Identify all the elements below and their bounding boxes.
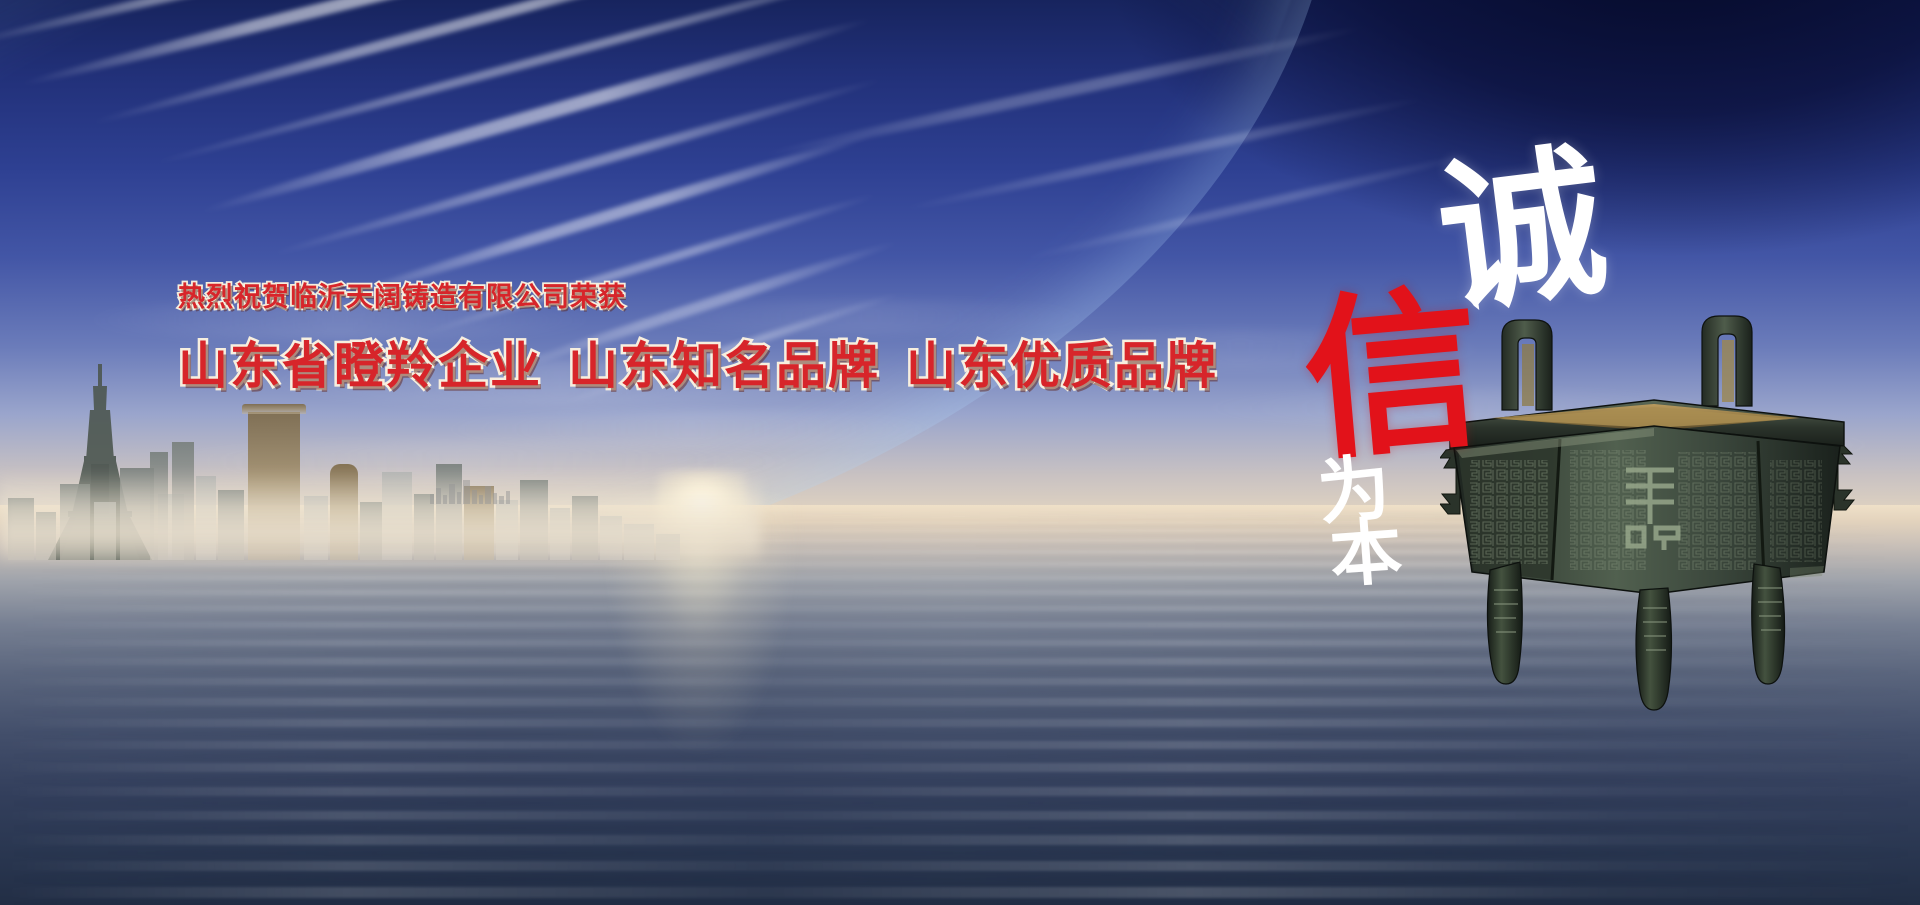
eiffel-tower-icon [36, 364, 164, 560]
wave-band [0, 518, 1920, 521]
wave-band [0, 874, 1920, 885]
ding-handle-right [1702, 316, 1752, 406]
building [624, 524, 654, 560]
wave-band [0, 775, 1920, 784]
wave-band [0, 583, 1920, 588]
headline-block: 热烈祝贺临沂天阔铸造有限公司荣获 山东省瞪羚企业山东知名品牌山东优质品牌 [178, 275, 1218, 398]
cloud-streak [149, 0, 943, 169]
sun-icon [657, 470, 747, 532]
wave-band [0, 708, 1920, 716]
cloud-streak [1019, 149, 1479, 263]
wave-band [0, 719, 1920, 727]
awards-line: 山东省瞪羚企业山东知名品牌山东优质品牌 [178, 326, 1218, 398]
wave-band [0, 698, 1920, 706]
wave-band [0, 513, 1920, 515]
building [414, 494, 434, 560]
building [120, 468, 154, 560]
city-mist [0, 470, 760, 560]
cloud-streak [18, 0, 681, 91]
building [464, 486, 494, 560]
building [360, 502, 382, 560]
building-cap [242, 404, 306, 414]
building [36, 512, 56, 560]
cloud-wisp [120, 440, 820, 484]
calligraphy-cheng: 诚 [1431, 141, 1615, 325]
wave-band [0, 590, 1920, 595]
award-item-1: 山东省瞪羚企业 [178, 338, 542, 394]
cloud-streak [0, 0, 507, 50]
cloud-streak [198, 12, 875, 218]
wave-band [0, 598, 1920, 603]
ding-rim [1450, 400, 1844, 450]
wave-band [0, 668, 1920, 675]
wave-band [0, 640, 1920, 646]
promo-banner: 诚 信 为 本 热烈祝贺临沂天阔铸造有限公司荣获 山东省瞪羚企业山东知名品牌山东… [0, 0, 1920, 905]
wave-band [0, 763, 1920, 772]
building [248, 412, 300, 560]
wave-band [0, 678, 1920, 685]
cloud-wisp [1180, 390, 1740, 426]
wave-band [0, 688, 1920, 695]
wave-band [0, 861, 1920, 871]
calligraphy-ben-glyph: 本 [1328, 516, 1405, 593]
cloud-streak [89, 0, 826, 129]
wave-band [0, 606, 1920, 612]
ocean-background [0, 505, 1920, 905]
cloud-streak [899, 93, 1429, 215]
wave-band [0, 631, 1920, 637]
building [60, 484, 90, 560]
sun-glitter-path [470, 498, 930, 798]
wave-band [0, 823, 1920, 833]
wave-band [0, 515, 1920, 517]
congratulation-line: 热烈祝贺临沂天阔铸造有限公司荣获 [178, 275, 1218, 314]
wave-band [0, 614, 1920, 620]
wave-band [0, 569, 1920, 574]
building [600, 516, 622, 560]
wave-band [0, 741, 1920, 749]
building [656, 534, 680, 560]
building [572, 496, 598, 560]
building [436, 464, 462, 560]
building [304, 496, 328, 560]
building [382, 472, 412, 560]
cloud-streak [759, 21, 1368, 162]
wave-band [0, 787, 1920, 796]
wave-band [0, 550, 1920, 554]
wave-band [0, 576, 1920, 581]
ding-inscription [1626, 468, 1678, 550]
wave-band [0, 649, 1920, 656]
wave-band [0, 544, 1920, 548]
building [550, 508, 570, 560]
ding-legs [1487, 562, 1784, 710]
wave-band [0, 730, 1920, 738]
wave-band [0, 521, 1920, 524]
wave-band [0, 887, 1920, 898]
wave-band [0, 835, 1920, 845]
wave-band [0, 539, 1920, 543]
wave-band [0, 525, 1920, 528]
wave-band [0, 900, 1920, 905]
building [94, 502, 116, 560]
cloud-wisp [1420, 430, 1900, 460]
ding-handle-left [1502, 320, 1552, 410]
wave-band [0, 512, 1920, 514]
calligraphy-wei: 为 [1314, 451, 1393, 530]
building [196, 476, 216, 560]
wave-band [0, 562, 1920, 566]
building [218, 490, 244, 560]
round-tower [330, 464, 358, 560]
bronze-ding-vessel [1440, 300, 1860, 720]
wave-band [0, 622, 1920, 628]
wave-band [0, 658, 1920, 665]
building [8, 498, 34, 560]
calligraphy-xin: 信 [1298, 283, 1488, 473]
wave-band [0, 752, 1920, 761]
wave-band [0, 848, 1920, 858]
wave-band [0, 811, 1920, 821]
wave-band [0, 556, 1920, 560]
calligraphy-ben: 本 [1328, 516, 1405, 593]
award-item-3: 山东优质品牌 [906, 338, 1218, 394]
building [172, 442, 194, 560]
calligraphy-cheng-glyph: 诚 [1431, 141, 1615, 325]
building [496, 500, 518, 560]
cloud-wisp [430, 410, 950, 448]
wave-band [0, 529, 1920, 532]
building [150, 452, 168, 560]
wave-band [0, 798, 1920, 807]
building [520, 480, 548, 560]
award-item-2: 山东知名品牌 [568, 338, 880, 394]
wave-band [0, 534, 1920, 537]
calligraphy-xin-glyph: 信 [1298, 283, 1488, 473]
cloud-streak [269, 74, 887, 260]
calligraphy-wei-glyph: 为 [1314, 451, 1393, 530]
building [158, 494, 184, 560]
ding-body [1454, 426, 1840, 594]
